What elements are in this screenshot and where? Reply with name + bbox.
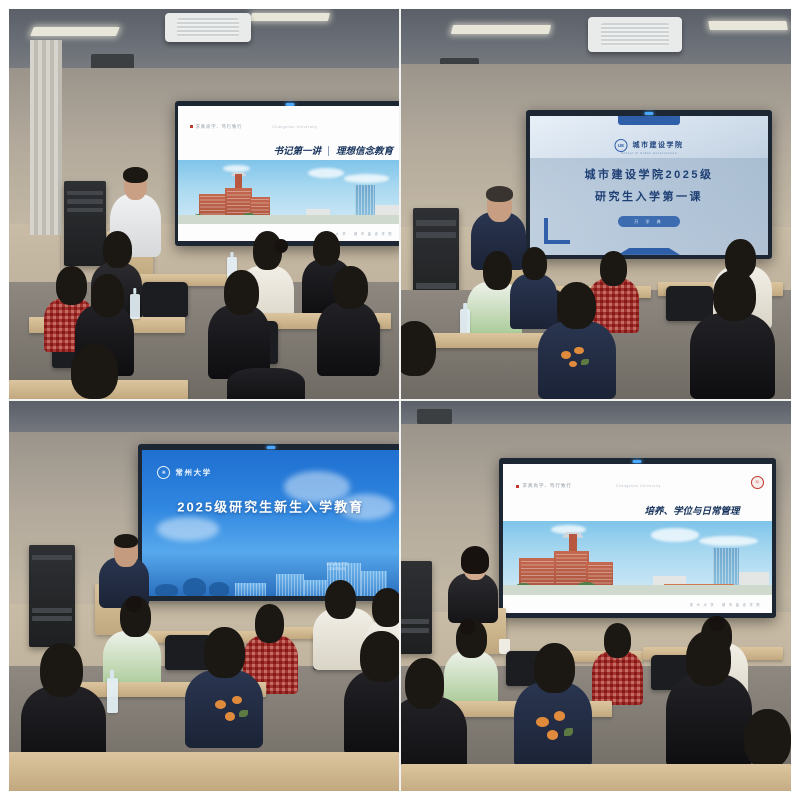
audience-head <box>313 231 340 266</box>
screen-power-led <box>266 446 275 449</box>
headline-sub: 理想信念教育 <box>336 146 393 157</box>
flower-decoration <box>534 709 581 748</box>
slide-campus-banner: 求真尚学、笃行致行 Changzhou University 书记第一讲理想信念… <box>178 106 399 241</box>
audience-head <box>534 643 575 694</box>
city-silhouette <box>142 543 399 595</box>
headline-divider <box>328 146 329 156</box>
audience-head <box>56 266 87 305</box>
ceiling-light-strip <box>250 13 330 21</box>
headline-main: 书记第一讲 <box>273 146 321 157</box>
audience-head <box>600 251 627 286</box>
audience-head <box>401 321 436 376</box>
audience-person <box>592 651 643 706</box>
chair <box>142 282 189 317</box>
air-conditioner-unit <box>588 17 682 52</box>
ceiling-light-strip <box>31 27 120 36</box>
tagline-bullet <box>516 485 519 488</box>
audience-hair-bun <box>274 239 288 253</box>
slide-sky-cover: ❋ 常州大学 2025级研究生新生入学教育 <box>142 450 399 596</box>
panel-bottom-left[interactable]: ❋ 常州大学 2025级研究生新生入学教育 <box>9 401 399 791</box>
campus-ground <box>503 585 772 595</box>
campus-illustration <box>178 160 399 223</box>
audience-person <box>344 670 399 756</box>
presentation-screen: UE 城市建设学院 School of Urban Construction 城… <box>530 116 769 255</box>
slide-title-line1: 城市建设学院2025级 <box>585 166 714 182</box>
audience-head <box>686 631 731 686</box>
water-bottle[interactable] <box>107 678 119 713</box>
audience-head <box>713 270 756 321</box>
slide-tagline-en: Changzhou University <box>272 125 317 129</box>
audience-head <box>744 709 791 768</box>
slide-tagline-cn: 求真尚学、笃行致行 <box>190 124 243 130</box>
institute-logo-mark: UE <box>615 139 628 152</box>
audience-head <box>405 658 444 709</box>
audience-hair-bun <box>709 616 725 632</box>
audience-person <box>227 368 305 399</box>
university-logo-text: 常州大学 <box>175 467 211 478</box>
equipment-rack <box>401 561 432 655</box>
equipment-rack <box>64 181 107 267</box>
institute-logo-text: 城市建设学院 <box>633 140 684 150</box>
water-bottle[interactable] <box>130 294 140 319</box>
slide-title-line2: 研究生入学第一课 <box>595 188 703 204</box>
audience-head <box>372 588 399 627</box>
audience-hair-bun <box>460 619 476 635</box>
audience-head <box>224 270 259 315</box>
presenter-body <box>448 573 499 624</box>
ceiling-light-strip <box>451 25 551 34</box>
slide-title: 2025级研究生新生入学教育 <box>177 496 364 515</box>
equipment-rack <box>29 545 76 646</box>
audience-head <box>40 643 83 698</box>
audience-person <box>317 302 379 376</box>
presenter-hair <box>461 546 489 573</box>
tagline-bullet <box>190 125 193 128</box>
flower-decoration <box>212 694 255 729</box>
presentation-screen-frame[interactable]: 求真尚学、笃行致行 Changzhou University 书记第一讲理想信念… <box>175 101 399 246</box>
audience-person <box>510 274 557 329</box>
chair <box>666 286 713 321</box>
desk <box>9 752 399 791</box>
campus-ground <box>178 215 399 224</box>
audience-head <box>557 282 596 329</box>
slide-tagline-en: Changzhou University <box>616 484 661 488</box>
presenter-hair <box>114 534 139 548</box>
audience-head <box>604 623 631 658</box>
presenter-hair <box>123 167 148 183</box>
slide-tab-top <box>618 116 680 124</box>
slide-footer-note: 常 州 大 学 · 城 市 建 设 学 院 <box>690 602 761 607</box>
audience-head <box>333 266 368 309</box>
presentation-screen: 求真尚学、笃行致行 Changzhou University 印 培养、学位与日… <box>503 464 772 613</box>
university-logo-mark: ❋ <box>157 466 170 479</box>
presentation-screen: 求真尚学、笃行致行 Changzhou University 书记第一讲理想信念… <box>178 106 399 241</box>
audience-head <box>483 251 512 290</box>
presentation-screen-frame[interactable]: 求真尚学、笃行致行 Changzhou University 印 培养、学位与日… <box>499 458 777 619</box>
audience-head <box>360 631 399 682</box>
slide-headline: 书记第一讲理想信念教育 <box>273 143 393 157</box>
audience-head <box>71 344 118 399</box>
slide-signature: 城市建设学院 2025年9月 <box>326 562 348 573</box>
audience-person <box>690 313 776 399</box>
slide-campus-banner: 求真尚学、笃行致行 Changzhou University 印 培养、学位与日… <box>503 464 772 613</box>
air-conditioner-unit <box>165 13 251 42</box>
audience-head <box>522 247 547 280</box>
slide-institute-cover: UE 城市建设学院 School of Urban Construction 城… <box>530 116 769 255</box>
slide-tagline-cn: 求真尚学、笃行致行 <box>516 483 571 489</box>
ceiling-light-strip <box>708 21 788 30</box>
photo-collage: 求真尚学、笃行致行 Changzhou University 书记第一讲理想信念… <box>9 9 791 791</box>
screen-power-led <box>286 103 295 106</box>
presentation-screen: ❋ 常州大学 2025级研究生新生入学教育 <box>142 450 399 596</box>
institute-logo: UE 城市建设学院 <box>615 139 684 152</box>
audience-head <box>204 627 245 678</box>
wall-speaker <box>417 409 452 425</box>
institute-logo-en: School of Urban Construction <box>621 152 677 155</box>
slide-signature-date: 2025年9月 <box>326 567 348 572</box>
window-curtain <box>30 40 61 235</box>
audience-head <box>91 274 124 317</box>
desk <box>401 764 791 791</box>
audience-head <box>103 231 132 268</box>
university-logo: ❋ 常州大学 <box>157 466 211 479</box>
panel-top-right[interactable]: UE 城市建设学院 School of Urban Construction 城… <box>401 9 791 399</box>
screen-power-led <box>633 460 642 463</box>
slide-headline: 培养、学位与日常管理 <box>644 503 739 517</box>
audience-head <box>255 604 284 643</box>
screen-power-led <box>645 112 654 115</box>
headline-main: 培养、学位与日常管理 <box>644 506 739 517</box>
audience-head <box>325 580 356 619</box>
university-seal: 印 <box>751 476 764 489</box>
audience-hair-bun <box>126 596 142 612</box>
slide-presenter-pill: 开 学 典 <box>618 216 680 227</box>
audience-person <box>666 674 752 768</box>
presenter-hair <box>486 186 513 202</box>
panel-top-left[interactable]: 求真尚学、笃行致行 Changzhou University 书记第一讲理想信念… <box>9 9 399 399</box>
flower-decoration <box>557 344 596 375</box>
presentation-screen-frame[interactable]: UE 城市建设学院 School of Urban Construction 城… <box>526 110 772 259</box>
panel-bottom-right[interactable]: 求真尚学、笃行致行 Changzhou University 印 培养、学位与日… <box>401 401 791 791</box>
presentation-screen-frame[interactable]: ❋ 常州大学 2025级研究生新生入学教育 <box>138 444 399 601</box>
campus-illustration <box>503 521 772 596</box>
slide-corner-bracket <box>544 218 569 244</box>
